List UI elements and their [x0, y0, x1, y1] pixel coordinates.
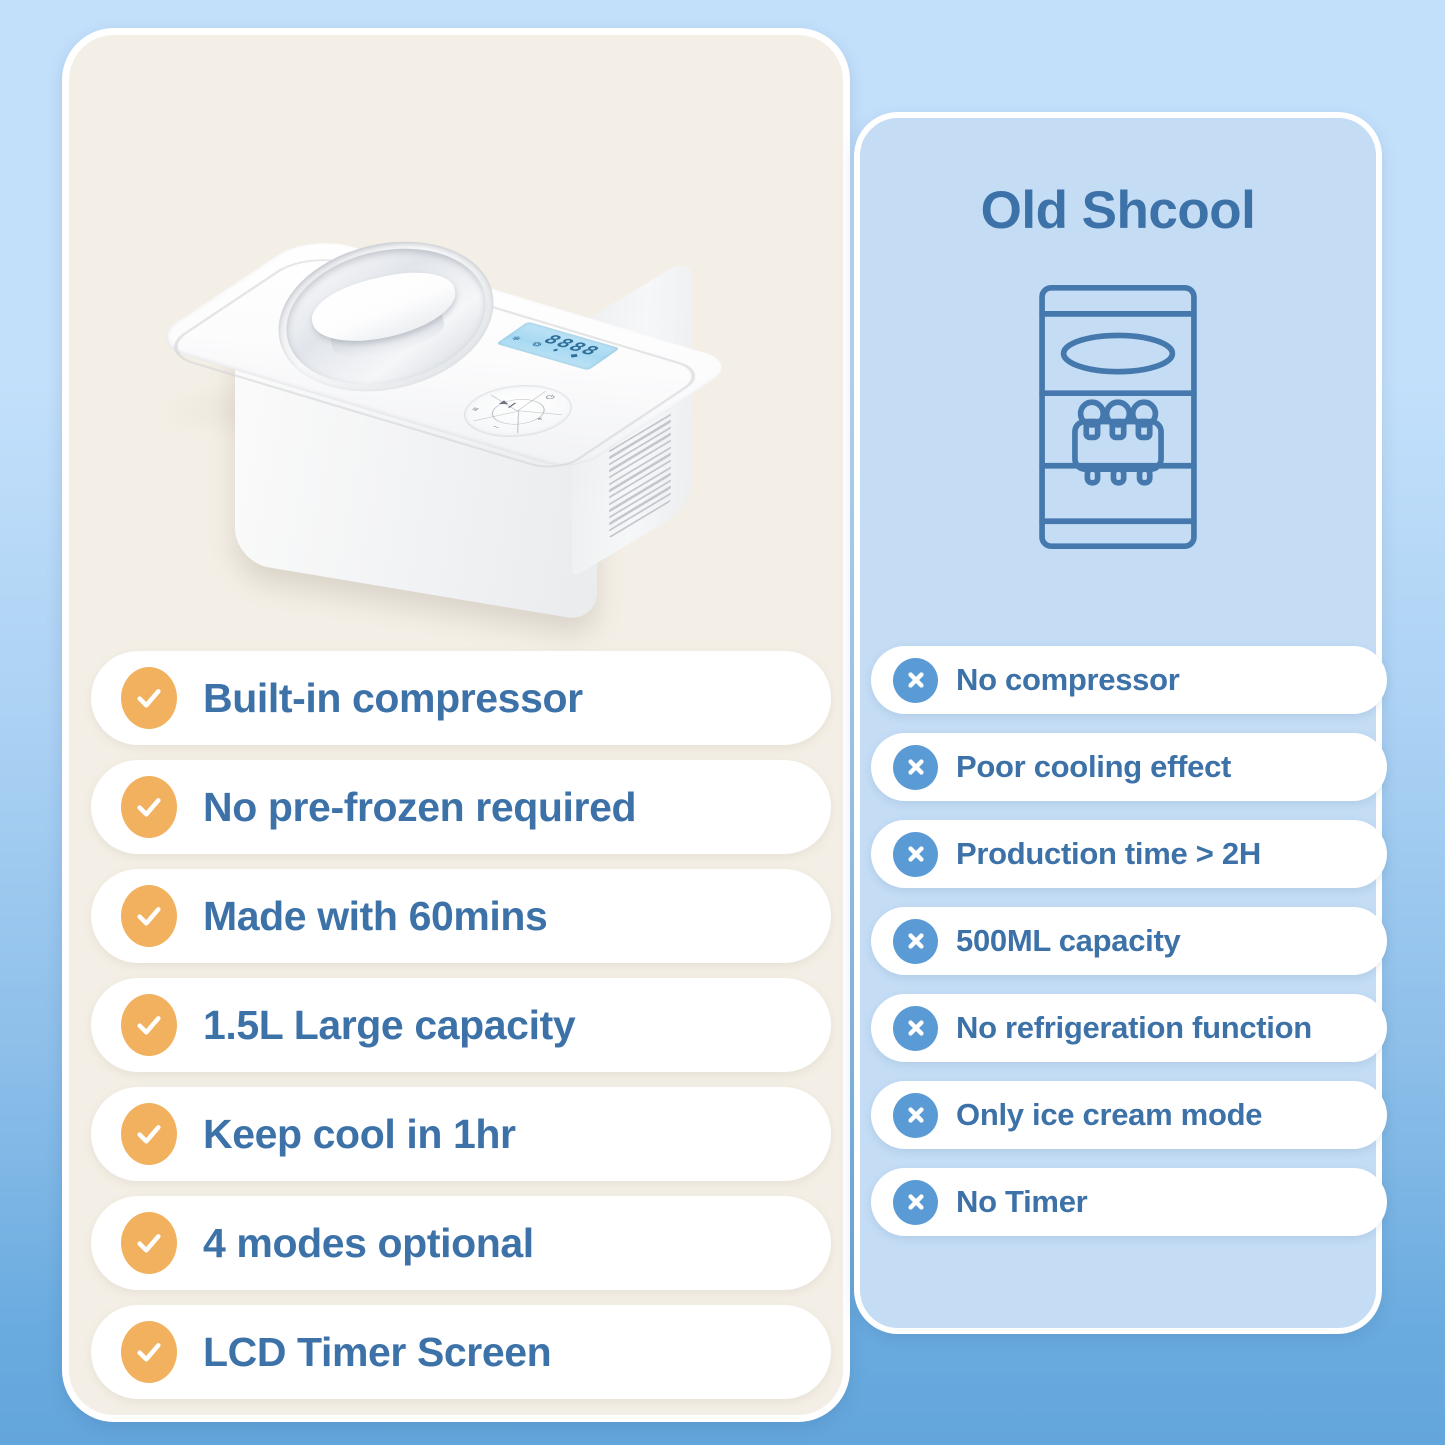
check-icon: [121, 885, 177, 947]
menu-button-icon[interactable]: ≡: [469, 406, 481, 412]
x-icon: [893, 1006, 938, 1051]
drawback-label: No Timer: [956, 1184, 1087, 1220]
list-item[interactable]: No Timer: [871, 1168, 1387, 1236]
feature-label: Made with 60mins: [203, 893, 547, 940]
feature-label: No pre-frozen required: [203, 784, 636, 831]
list-item[interactable]: No pre-frozen required: [91, 760, 831, 854]
list-item[interactable]: LCD Timer Screen: [91, 1305, 831, 1399]
minus-button-icon[interactable]: –: [490, 424, 502, 430]
x-icon: [893, 1180, 938, 1225]
feature-list: Built-in compressor No pre-frozen requir…: [91, 651, 831, 1399]
list-item[interactable]: Poor cooling effect: [871, 733, 1387, 801]
feature-label: LCD Timer Screen: [203, 1329, 551, 1376]
list-item[interactable]: Only ice cream mode: [871, 1081, 1387, 1149]
list-item[interactable]: Built-in compressor: [91, 651, 831, 745]
feature-label: Built-in compressor: [203, 675, 583, 722]
x-icon: [893, 832, 938, 877]
power-button-icon[interactable]: ⏻: [543, 394, 557, 401]
check-icon: [121, 1212, 177, 1274]
x-icon: [893, 919, 938, 964]
plus-button-icon[interactable]: +: [533, 416, 545, 422]
list-item[interactable]: 500ML capacity: [871, 907, 1387, 975]
product-photo-area: 8888 ❄ ❂ ♦ ◆ ⏻ + –: [69, 35, 843, 635]
soft-serve-machine-icon: [1033, 281, 1203, 553]
check-icon: [121, 1103, 177, 1165]
list-item[interactable]: No compressor: [871, 646, 1387, 714]
check-icon: [121, 994, 177, 1056]
check-icon: [121, 667, 177, 729]
cup-icon: ♦: [550, 347, 561, 353]
comparison-infographic: 8888 ❄ ❂ ♦ ◆ ⏻ + –: [0, 0, 1445, 1445]
ice-cream-maker-product: 8888 ❄ ❂ ♦ ◆ ⏻ + –: [217, 230, 717, 630]
x-icon: [893, 658, 938, 703]
play-pause-button-icon[interactable]: ▶❙: [498, 400, 519, 409]
list-item[interactable]: Production time > 2H: [871, 820, 1387, 888]
feature-label: Keep cool in 1hr: [203, 1111, 516, 1158]
drawback-label: No refrigeration function: [956, 1010, 1312, 1046]
list-item[interactable]: 4 modes optional: [91, 1196, 831, 1290]
drawback-label: 500ML capacity: [956, 923, 1180, 959]
new-product-panel: 8888 ❄ ❂ ♦ ◆ ⏻ + –: [62, 28, 850, 1422]
list-item[interactable]: Keep cool in 1hr: [91, 1087, 831, 1181]
drawback-label: Production time > 2H: [956, 836, 1261, 872]
feature-label: 1.5L Large capacity: [203, 1002, 575, 1049]
drawback-label: Only ice cream mode: [956, 1097, 1262, 1133]
list-item[interactable]: Made with 60mins: [91, 869, 831, 963]
list-item[interactable]: No refrigeration function: [871, 994, 1387, 1062]
feature-label: 4 modes optional: [203, 1220, 534, 1267]
check-icon: [121, 1321, 177, 1383]
cone-icon: ◆: [567, 352, 581, 359]
snowflake-icon: ❄: [509, 335, 523, 342]
x-icon: [893, 745, 938, 790]
old-school-panel: Old Shcool: [854, 112, 1382, 1334]
x-icon: [893, 1093, 938, 1138]
fan-icon: ❂: [529, 341, 543, 348]
drawback-list: No compressor Poor cooling effect Produc…: [871, 646, 1387, 1236]
check-icon: [121, 776, 177, 838]
list-item[interactable]: 1.5L Large capacity: [91, 978, 831, 1072]
drawback-label: No compressor: [956, 662, 1180, 698]
page-title: Old Shcool: [860, 180, 1376, 241]
drawback-label: Poor cooling effect: [956, 749, 1231, 785]
